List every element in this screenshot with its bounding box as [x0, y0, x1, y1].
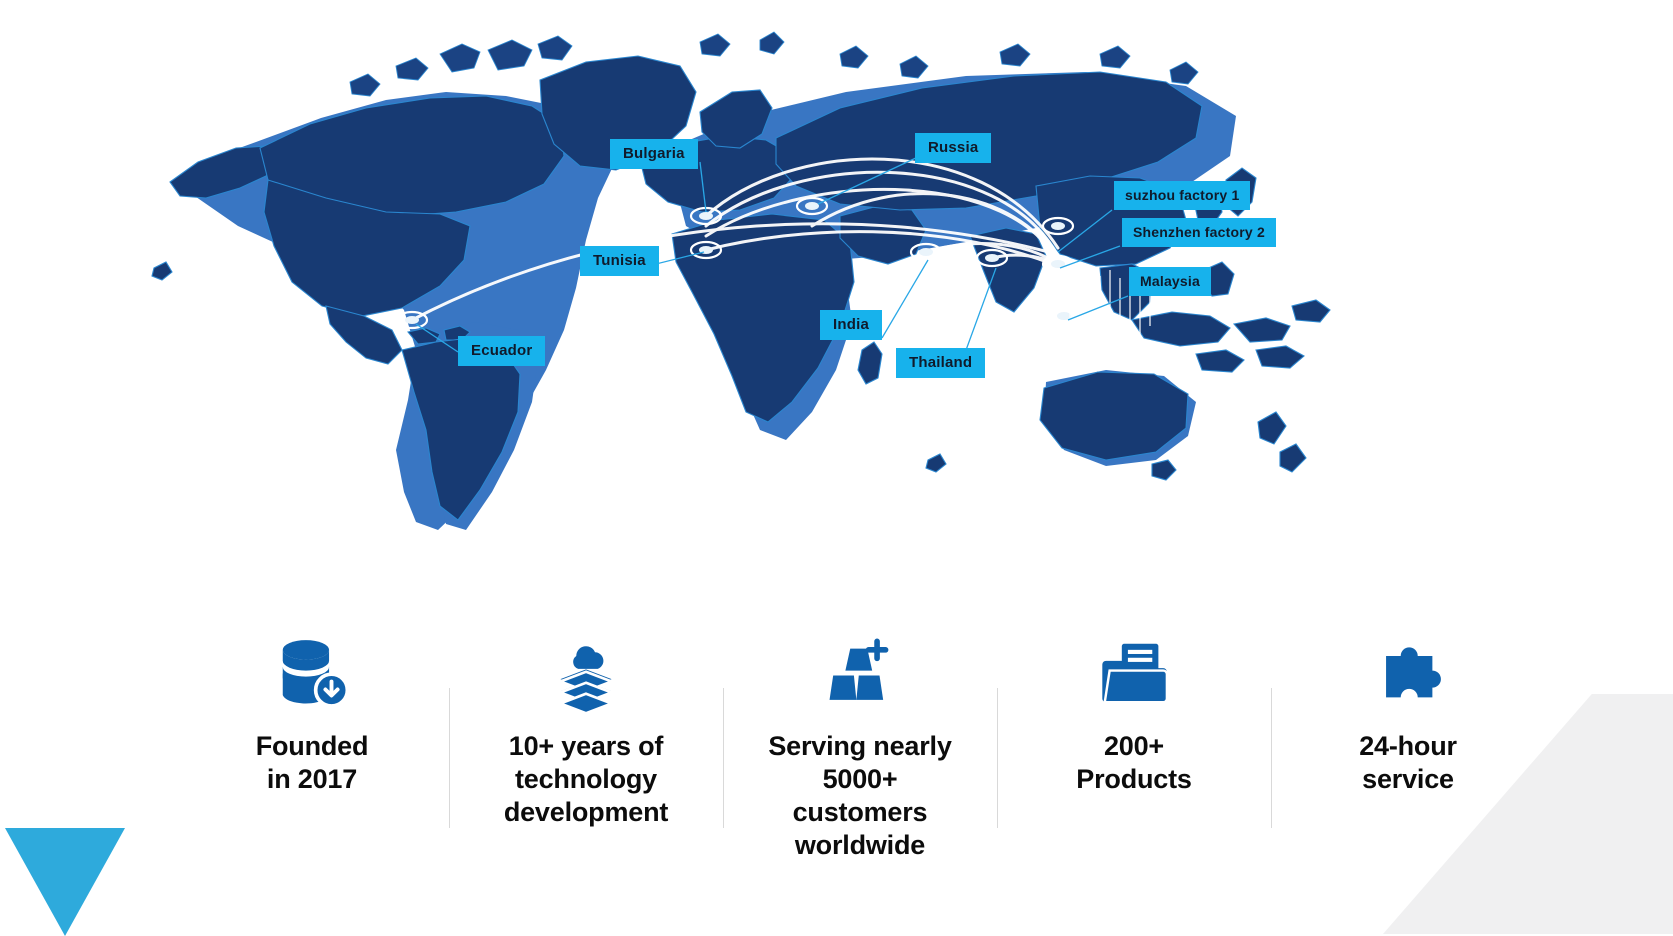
stat-item-customers: Serving nearly5000+customersworldwide — [723, 630, 997, 862]
map-pin-label-india[interactable]: India — [820, 310, 882, 340]
slide-canvas: Bulgaria Russia suzhou factory 1 Shenzhe… — [0, 0, 1673, 934]
stat-item-founded: Foundedin 2017 — [175, 630, 449, 796]
stat-item-service: 24-hourservice — [1271, 630, 1545, 796]
map-pin-label-tunisia[interactable]: Tunisia — [580, 246, 659, 276]
stat-label-service: 24-hourservice — [1359, 730, 1457, 796]
map-pin-label-suzhou-factory-1[interactable]: suzhou factory 1 — [1114, 181, 1250, 210]
stat-item-technology: 10+ years oftechnologydevelopment — [449, 630, 723, 829]
database-download-icon — [273, 630, 351, 712]
stat-label-founded: Foundedin 2017 — [256, 730, 369, 796]
world-map: Bulgaria Russia suzhou factory 1 Shenzhe… — [140, 20, 1400, 540]
map-pin-label-thailand[interactable]: Thailand — [896, 348, 985, 378]
triangle-marker-decoration — [5, 828, 125, 936]
stat-label-customers: Serving nearly5000+customersworldwide — [768, 730, 951, 862]
stat-label-products: 200+Products — [1076, 730, 1191, 796]
map-pin-label-malaysia[interactable]: Malaysia — [1129, 267, 1211, 296]
blocks-plus-icon — [821, 630, 899, 712]
stat-item-products: 200+Products — [997, 630, 1271, 796]
map-pin-label-ecuador[interactable]: Ecuador — [458, 336, 545, 366]
folder-document-icon — [1095, 630, 1173, 712]
stat-label-technology: 10+ years oftechnologydevelopment — [504, 730, 668, 829]
puzzle-piece-icon — [1369, 630, 1447, 712]
layers-cloud-icon — [547, 630, 625, 712]
map-pin-label-shenzhen-factory-2[interactable]: Shenzhen factory 2 — [1122, 218, 1276, 247]
stats-strip: Foundedin 2017 10+ years oftechnologydev… — [175, 630, 1545, 880]
map-pin-label-bulgaria[interactable]: Bulgaria — [610, 139, 698, 169]
map-pin-label-russia[interactable]: Russia — [915, 133, 991, 163]
